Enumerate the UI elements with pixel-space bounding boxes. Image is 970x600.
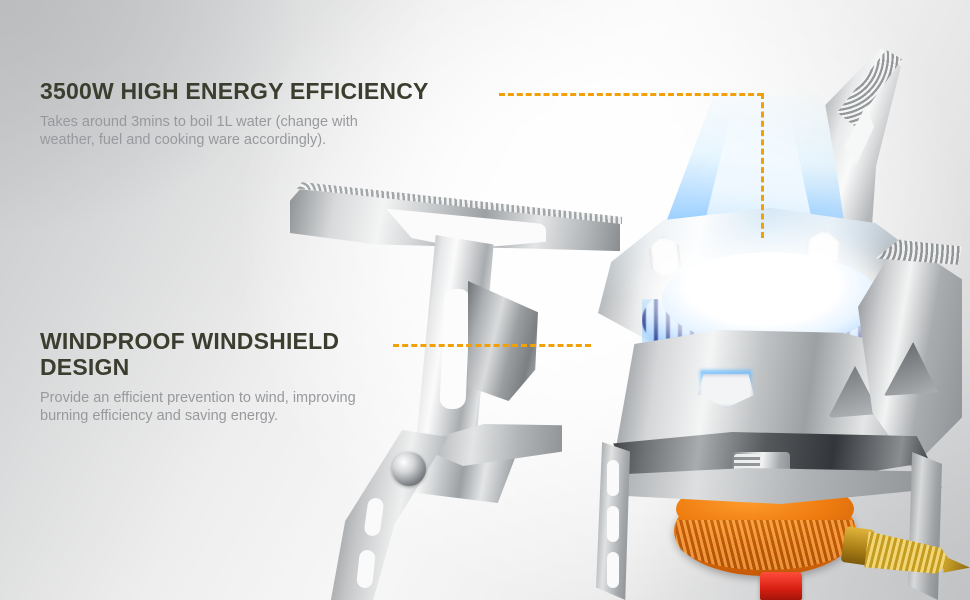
feature-block-windshield: WINDPROOF WINDSHIELD DESIGN Provide an e…: [40, 328, 440, 425]
leg-pivot-rivet: [392, 452, 426, 486]
piezo-igniter-button[interactable]: [760, 572, 802, 600]
stem-slot-cutout: [439, 289, 470, 409]
base-frame-slot: [607, 552, 619, 588]
support-shoulder: [468, 281, 538, 401]
feature-heading-power: 3500W HIGH ENERGY EFFICIENCY: [40, 78, 490, 104]
feature-block-power: 3500W HIGH ENERGY EFFICIENCY Takes aroun…: [40, 78, 490, 149]
feature-heading-windshield: WINDPROOF WINDSHIELD DESIGN: [40, 328, 440, 380]
valve-tip: [943, 554, 970, 577]
feature-body-windshield: Provide an efficient prevention to wind,…: [40, 389, 440, 425]
base-frame-slot: [607, 506, 619, 542]
power-connector-vertical: [761, 93, 764, 238]
windshield-connector-line: [393, 344, 591, 347]
power-connector-horizontal: [499, 93, 763, 96]
folding-leg: [330, 430, 560, 600]
base-rail: [592, 468, 942, 504]
feature-body-power: Takes around 3mins to boil 1L water (cha…: [40, 113, 490, 149]
base-frame-slot: [607, 460, 619, 496]
shroud-notch-cutout: [698, 374, 754, 408]
infographic-canvas: 3500W HIGH ENERGY EFFICIENCY Takes aroun…: [0, 0, 970, 600]
base-frame-right: [908, 452, 942, 600]
